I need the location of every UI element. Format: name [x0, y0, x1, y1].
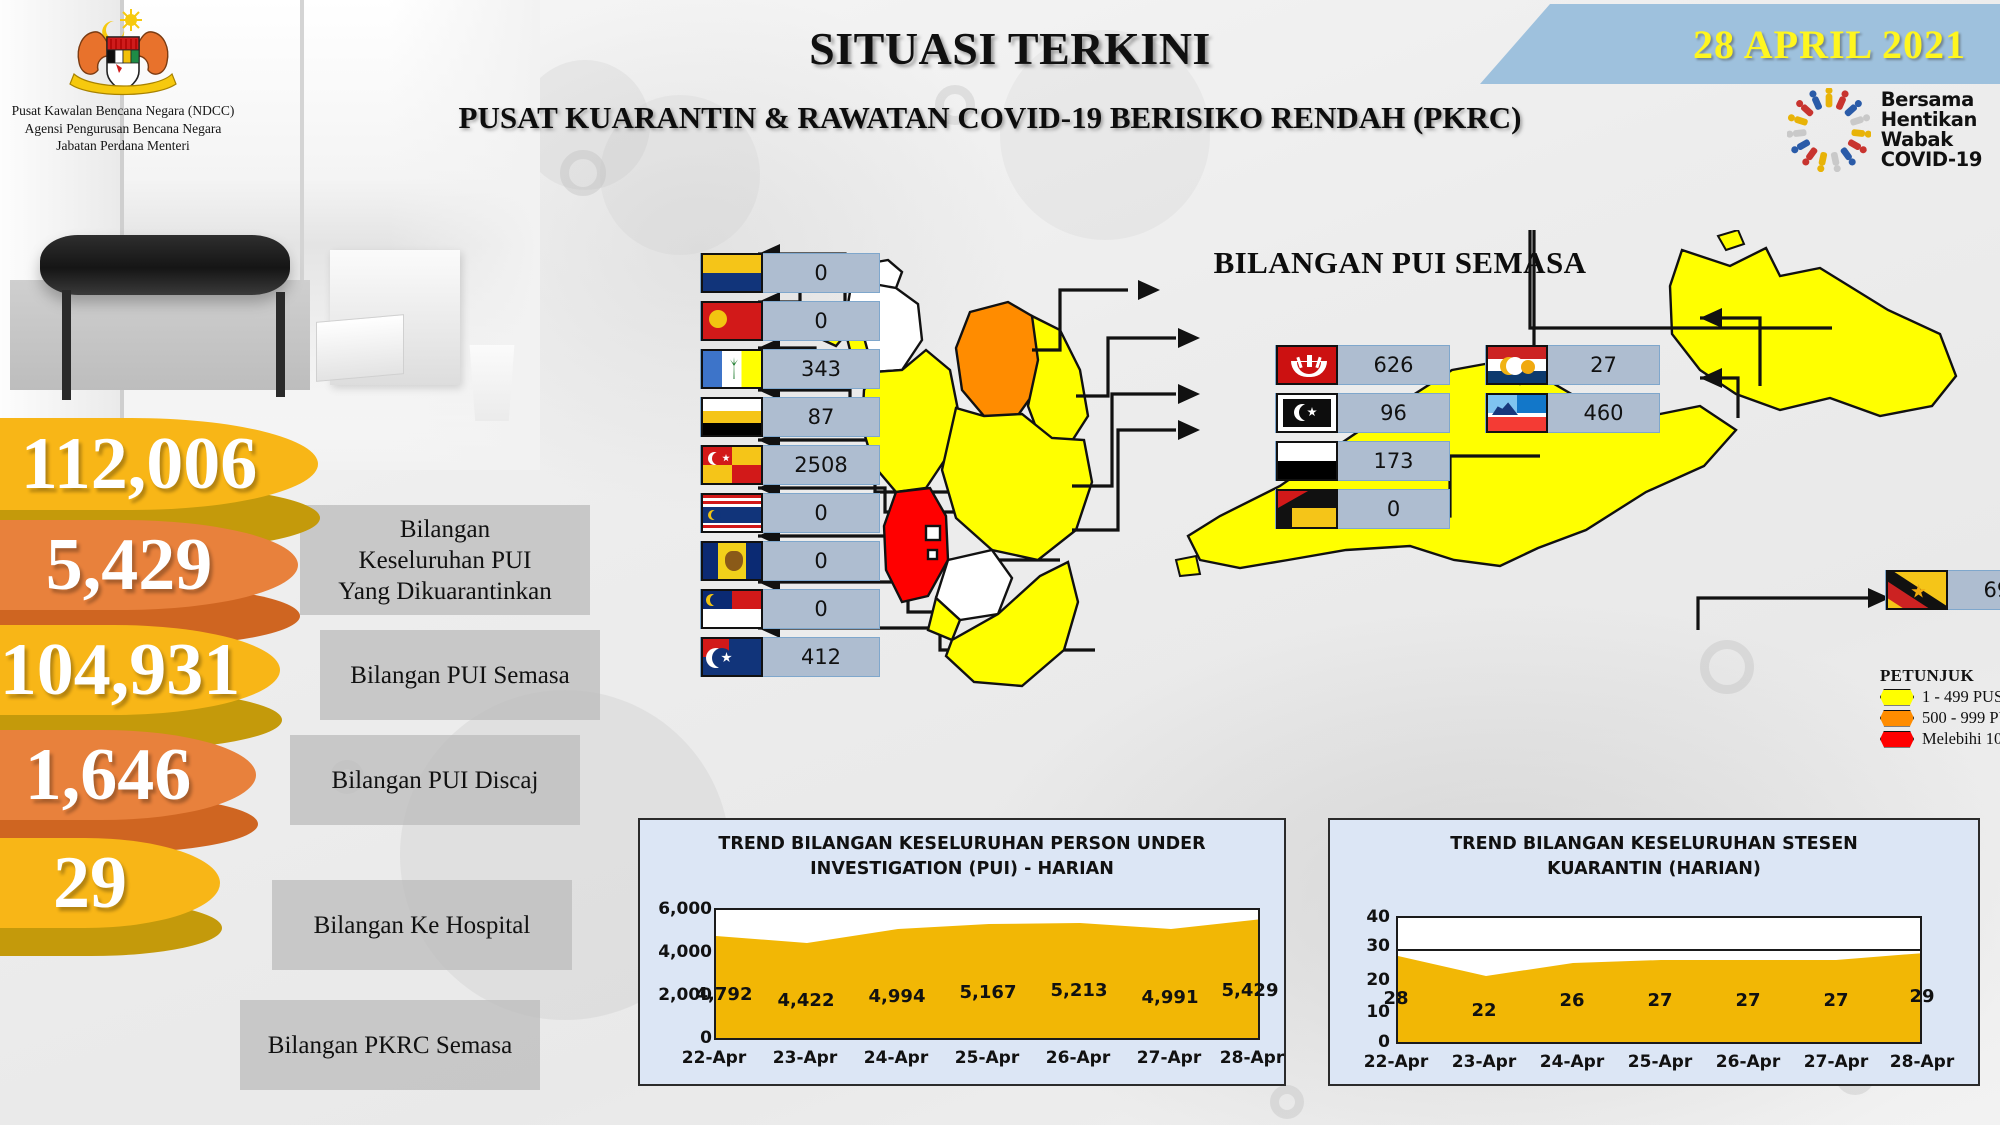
page-subtitle: PUSAT KUARANTIN & RAWATAN COVID-19 BERIS…: [230, 100, 1750, 136]
chart2-value-2: 26: [1542, 990, 1602, 1011]
summary-label-text: Bilangan Keseluruhan PUI Yang Dikuaranti…: [338, 514, 551, 607]
chart2-xtick-3: 25-Apr: [1620, 1052, 1700, 1072]
summary-value-3: 1,646: [0, 733, 256, 818]
legend-label: Melebihi 1000 PUS: [1922, 729, 2000, 749]
state-chip-selangor[interactable]: 2508: [700, 445, 880, 485]
legend-label: 1 - 499 PUS: [1922, 687, 2000, 707]
summary-label-text: Bilangan PUI Semasa: [350, 660, 569, 691]
chart2-title-line1: TREND BILANGAN KESELURUHAN STESEN: [1330, 832, 1978, 857]
chart1-value-5: 4,991: [1130, 987, 1210, 1008]
bersama-hentikan-wabak-logo: Bersama Hentikan Wabak COVID-19: [1787, 88, 1982, 172]
summary-label-0: Bilangan Keseluruhan PUI Yang Dikuaranti…: [300, 505, 590, 615]
flag-labuan: [1486, 345, 1548, 385]
chart1-xtick-5: 27-Apr: [1129, 1048, 1209, 1068]
summary-label-1: Bilangan PUI Semasa: [320, 630, 600, 720]
page-title: SITUASI TERKINI: [560, 22, 1460, 75]
state-value: 0: [763, 261, 879, 285]
state-value: 2508: [763, 453, 879, 477]
state-value: 460: [1548, 401, 1659, 425]
chart1-xtick-2: 24-Apr: [856, 1048, 936, 1068]
legend-swatch-mid: [1880, 710, 1914, 727]
state-chip-perak[interactable]: 87: [700, 397, 880, 437]
chart2-area-series: [1398, 918, 1922, 1044]
campaign-line-4: COVID-19: [1881, 150, 1982, 170]
chart1-value-1: 4,422: [766, 990, 846, 1011]
chart2-value-6: 29: [1892, 986, 1952, 1007]
chart1-ytick-0: 0: [644, 1028, 712, 1048]
date-ribbon: 28 APRIL 2021: [1480, 4, 2000, 84]
state-chip-penang[interactable]: 343: [700, 349, 880, 389]
chart2-value-4: 27: [1718, 990, 1778, 1011]
chart1-xtick-3: 25-Apr: [947, 1048, 1027, 1068]
flag-putrajaya: [701, 541, 763, 581]
state-chip-labuan[interactable]: 27: [1485, 345, 1660, 385]
state-value: 0: [763, 549, 879, 573]
state-chip-terengganu[interactable]: 96: [1275, 393, 1450, 433]
sarawak-islet: [1176, 556, 1200, 576]
state-value: 412: [763, 645, 879, 669]
infographic-canvas: Pusat Kawalan Bencana Negara (NDCC) Agen…: [0, 0, 2000, 1125]
chart1-xtick-6: 28-Apr: [1212, 1048, 1292, 1068]
malaysia-coat-of-arms-icon: [52, 4, 194, 96]
legend-row: 500 - 999 PUS: [1880, 708, 2000, 728]
chart-stesen-kuarantin: TREND BILANGAN KESELURUHAN STESEN KUARAN…: [1328, 818, 1980, 1086]
state-value: 173: [1338, 449, 1449, 473]
chart1-xtick-1: 23-Apr: [765, 1048, 845, 1068]
state-chip-kuala-lumpur[interactable]: 0: [700, 493, 880, 533]
funnel-band: 104,931: [0, 625, 280, 715]
chart1-plot-area: [714, 908, 1260, 1040]
funnel-band: 1,646: [0, 730, 256, 820]
state-chip-kedah[interactable]: 0: [700, 301, 880, 341]
state-chip-melaka[interactable]: 0: [1275, 489, 1450, 529]
chart2-ytick-20: 20: [1334, 970, 1390, 990]
flag-sabah: [1486, 393, 1548, 433]
state-putrajaya: [928, 550, 937, 559]
state-selangor: [884, 488, 948, 602]
chart1-ytick-4000: 4,000: [644, 942, 712, 962]
flag-negeri-sembilan: [701, 589, 763, 629]
chart2-xtick-6: 28-Apr: [1882, 1052, 1962, 1072]
state-value: 0: [763, 309, 879, 333]
chart2-value-0: 28: [1366, 988, 1426, 1009]
summary-label-text: Bilangan Ke Hospital: [314, 910, 531, 941]
chart1-xtick-0: 22-Apr: [674, 1048, 754, 1068]
state-value: 0: [763, 597, 879, 621]
campaign-line-1: Bersama: [1881, 90, 1982, 110]
state-chip-sarawak[interactable]: 697: [1885, 570, 2000, 610]
chart2-xtick-4: 26-Apr: [1708, 1052, 1788, 1072]
flag-johor: [701, 637, 763, 677]
legend-swatch-low: [1880, 689, 1914, 706]
summary-label-text: Bilangan PUI Discaj: [332, 765, 539, 796]
chart1-area-series: [716, 910, 1260, 1040]
chart2-ytick-30: 30: [1334, 936, 1390, 956]
report-date: 28 APRIL 2021: [1693, 21, 1966, 68]
map-arrowheads-mid: [1138, 280, 1200, 440]
state-chip-negeri-sembilan[interactable]: 0: [700, 589, 880, 629]
chart-title-line1: TREND BILANGAN KESELURUHAN PERSON UNDER: [640, 832, 1284, 857]
chart2-value-1: 22: [1454, 1000, 1514, 1021]
chart-title: TREND BILANGAN KESELURUHAN PERSON UNDER …: [640, 820, 1284, 882]
campaign-line-2: Hentikan: [1881, 110, 1982, 130]
state-chip-perlis[interactable]: 0: [700, 253, 880, 293]
chart1-ytick-6000: 6,000: [644, 899, 712, 919]
state-chip-pahang[interactable]: 173: [1275, 441, 1450, 481]
chart2-ytick-40: 40: [1334, 907, 1390, 927]
chart2-xtick-5: 27-Apr: [1796, 1052, 1876, 1072]
flag-kedah: [701, 301, 763, 341]
chart1-value-3: 5,167: [948, 982, 1028, 1003]
chart2-ytick-0: 0: [1334, 1032, 1390, 1052]
summary-value-2: 104,931: [0, 628, 280, 713]
chart-title-line2: INVESTIGATION (PUI) - HARIAN: [640, 857, 1284, 882]
chart2-value-3: 27: [1630, 990, 1690, 1011]
chart2-title-line2: KUARANTIN (HARIAN): [1330, 857, 1978, 882]
state-value: 87: [763, 405, 879, 429]
state-value: 343: [763, 357, 879, 381]
state-kuala-lumpur: [926, 526, 940, 540]
org-line-1: Pusat Kawalan Bencana Negara (NDCC): [8, 103, 238, 119]
chart2-value-5: 27: [1806, 990, 1866, 1011]
state-value: 697: [1948, 578, 2000, 602]
org-line-3: Jabatan Perdana Menteri: [8, 138, 238, 154]
flag-perlis: [701, 253, 763, 293]
virus-decor: [1270, 1085, 1304, 1119]
flag-sarawak: [1886, 570, 1948, 610]
funnel-band: 112,006: [0, 418, 318, 510]
state-value: 27: [1548, 353, 1659, 377]
chart2-title: TREND BILANGAN KESELURUHAN STESEN KUARAN…: [1330, 820, 1978, 882]
chart2-plot-area: [1396, 916, 1922, 1044]
legend-row: Melebihi 1000 PUS: [1880, 729, 2000, 749]
chart1-value-2: 4,994: [857, 986, 937, 1007]
summary-value-1: 5,429: [0, 523, 298, 608]
flag-kelantan: [1276, 345, 1338, 385]
flag-penang: [701, 349, 763, 389]
summary-value-4: 29: [0, 841, 220, 926]
flag-kuala-lumpur: [701, 493, 763, 533]
summary-label-3: Bilangan Ke Hospital: [272, 880, 572, 970]
flag-terengganu: [1276, 393, 1338, 433]
summary-value-0: 112,006: [0, 422, 318, 507]
funnel-band: 29: [0, 838, 220, 928]
chart1-value-0: 4,792: [684, 984, 764, 1005]
legend-label: 500 - 999 PUS: [1922, 708, 2000, 728]
sabah-islet: [1718, 230, 1744, 250]
state-value: 626: [1338, 353, 1449, 377]
state-chip-sabah[interactable]: 460: [1485, 393, 1660, 433]
summary-label-text: Bilangan PKRC Semasa: [268, 1030, 512, 1061]
funnel-band: 5,429: [0, 520, 298, 610]
legend-heading: PETUNJUK: [1880, 666, 2000, 686]
summary-label-2: Bilangan PUI Discaj: [290, 735, 580, 825]
state-value: 0: [763, 501, 879, 525]
legend-row: 1 - 499 PUS: [1880, 687, 2000, 707]
map-legend: PETUNJUK 1 - 499 PUS 500 - 999 PUS Meleb…: [1880, 666, 2000, 749]
flag-perak: [701, 397, 763, 437]
chart2-xtick-0: 22-Apr: [1356, 1052, 1436, 1072]
flag-pahang: [1276, 441, 1338, 481]
east-connector-arrows: [1560, 290, 1820, 490]
chart2-xtick-2: 24-Apr: [1532, 1052, 1612, 1072]
state-chip-putrajaya[interactable]: 0: [700, 541, 880, 581]
flag-selangor: [701, 445, 763, 485]
people-circle-icon: [1787, 88, 1871, 172]
chart1-xtick-4: 26-Apr: [1038, 1048, 1118, 1068]
org-line-2: Agensi Pengurusan Bencana Negara: [8, 121, 238, 137]
state-kelantan: [956, 302, 1040, 418]
chart2-xtick-1: 23-Apr: [1444, 1052, 1524, 1072]
campaign-line-3: Wabak: [1881, 130, 1982, 150]
state-value: 96: [1338, 401, 1449, 425]
chart1-value-6: 5,429: [1210, 980, 1290, 1001]
ndcc-logo-block: Pusat Kawalan Bencana Negara (NDCC) Agen…: [8, 4, 238, 154]
legend-swatch-high: [1880, 731, 1914, 748]
chart1-value-4: 5,213: [1039, 980, 1119, 1001]
flag-melaka: [1276, 489, 1338, 529]
state-chip-kelantan[interactable]: 626: [1275, 345, 1450, 385]
state-chip-johor[interactable]: 412: [700, 637, 880, 677]
state-value: 0: [1338, 497, 1449, 521]
summary-label-4: Bilangan PKRC Semasa: [240, 1000, 540, 1090]
chart-pui-harian: TREND BILANGAN KESELURUHAN PERSON UNDER …: [638, 818, 1286, 1086]
